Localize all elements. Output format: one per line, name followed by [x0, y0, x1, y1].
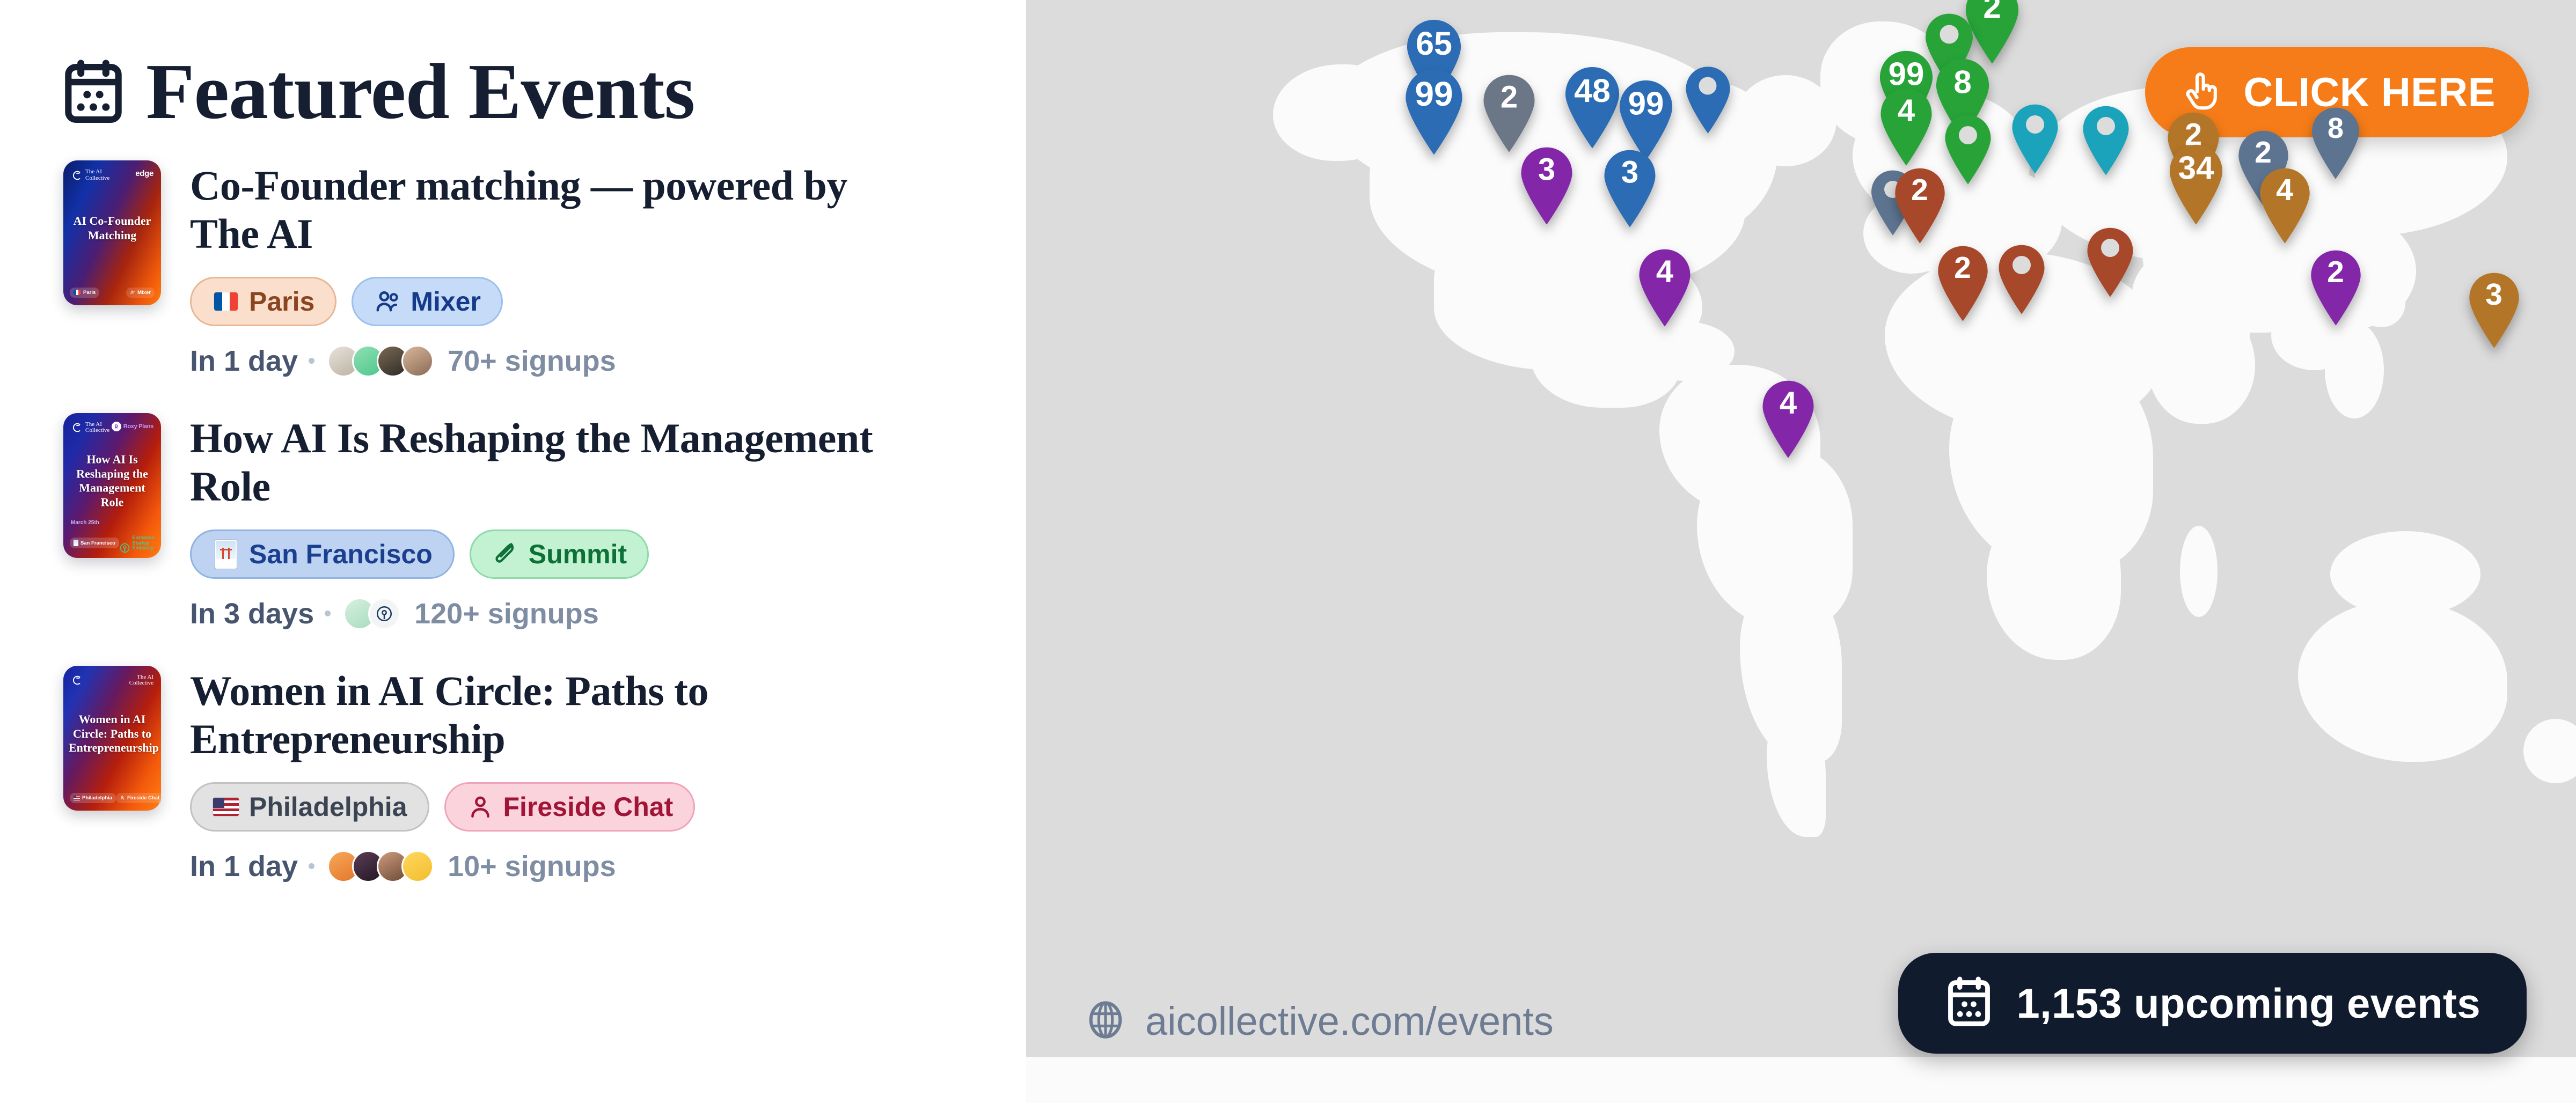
event-tag-label: Paris — [249, 286, 314, 317]
map-pin-count: 3 — [1517, 152, 1577, 188]
thumb-city-chip: San Francisco — [70, 538, 119, 548]
map-pin-count: 34 — [2165, 149, 2227, 186]
map-pin[interactable]: 4 — [1876, 87, 1936, 166]
map-pin[interactable] — [2008, 103, 2062, 174]
attendee-avatars — [343, 598, 400, 630]
event-tag-type[interactable]: Fireside Chat — [444, 782, 696, 832]
person-icon — [466, 793, 494, 821]
map-pin[interactable]: 3 — [1517, 146, 1577, 225]
thumb-brand-label: The AI Collective — [85, 169, 109, 181]
map-pin-shape — [1682, 65, 1734, 134]
map-pin-count: 3 — [1600, 155, 1660, 190]
person-icon — [120, 795, 125, 800]
thumb-date: March 25th — [71, 520, 99, 526]
event-body: Co-Founder matching — powered by The AI … — [190, 160, 1026, 378]
map-pin-hole — [2097, 117, 2115, 135]
upcoming-events-badge[interactable]: 1,153 upcoming events — [1898, 953, 2527, 1054]
event-title[interactable]: Women in AI Circle: Paths to Entrepreneu… — [190, 667, 888, 764]
click-here-label: CLICK HERE — [2244, 69, 2495, 116]
page-title: Featured Events — [146, 52, 694, 133]
map-pin-shape — [2079, 105, 2133, 176]
map-pin-shape — [2008, 103, 2062, 174]
map-pin-shape — [2083, 226, 2137, 298]
dot-separator — [309, 358, 314, 364]
thumb-type-label: Mixer — [137, 290, 151, 296]
partner-logo-icon — [112, 422, 121, 431]
map-pin[interactable]: 4 — [2256, 167, 2314, 244]
map-pin[interactable]: 2 — [1479, 73, 1539, 153]
event-tags: San Francisco Summit — [190, 530, 1026, 579]
thumb-city-label: San Francisco — [80, 540, 115, 546]
event-thumbnail[interactable]: The AI Collective Women in AI Circle: Pa… — [63, 666, 161, 811]
event-meta: In 1 day 70+ signups — [190, 344, 1026, 378]
map-pin-shape — [1941, 114, 1995, 185]
microphone-icon — [492, 540, 519, 568]
map-pin[interactable]: 3 — [1600, 149, 1660, 228]
event-thumbnail[interactable]: The AI Collective edge AI Co-Founder Mat… — [63, 160, 161, 305]
map-pin-count: 65 — [1402, 25, 1466, 62]
map-pin[interactable]: 34 — [2165, 143, 2227, 225]
thumb-partner-label: edge — [135, 169, 153, 178]
avatar — [368, 598, 400, 630]
thumb-headline: How AI Is Reshaping the Management Role — [69, 452, 156, 510]
thumb-city-chip: Philadelphia — [70, 793, 116, 803]
map-pin-count: 4 — [2256, 172, 2314, 208]
dot-separator — [325, 611, 331, 616]
embassy-logo: European Startup Embassy — [120, 535, 155, 550]
map-pin[interactable]: 4 — [1635, 248, 1695, 327]
event-list: The AI Collective edge AI Co-Founder Mat… — [0, 133, 1026, 883]
map-pin[interactable] — [2079, 105, 2133, 176]
event-tag-type[interactable]: Summit — [470, 530, 649, 579]
collective-logo-icon — [71, 674, 83, 686]
map-pin-count: 4 — [1758, 385, 1818, 421]
map-pin-count: 2 — [1891, 172, 1949, 208]
map-pin-count: 2 — [2307, 254, 2365, 290]
event-when: In 1 day — [190, 850, 298, 883]
thumb-type-label: Fireside Chat — [127, 795, 159, 801]
attendee-avatars — [327, 850, 434, 883]
world-map[interactable]: CLICK HERE aicollective.com/events — [1026, 0, 2576, 1103]
map-pin[interactable] — [2083, 226, 2137, 298]
event-tag-label: Summit — [529, 539, 627, 570]
flag-fr-icon — [212, 288, 240, 315]
map-pin-count: 4 — [1635, 254, 1695, 290]
map-pin-hole — [1959, 126, 1977, 144]
flag-us-icon — [212, 793, 240, 821]
map-pin-hole — [2101, 239, 2119, 257]
event-signups: 70+ signups — [448, 344, 616, 378]
map-pin-shape — [1995, 244, 2048, 315]
map-pin-count: 8 — [1931, 63, 1994, 100]
event-tags: Philadelphia Fireside Chat — [190, 782, 1026, 832]
thumb-city-label: Paris — [83, 290, 96, 296]
map-pin[interactable]: 4 — [1758, 379, 1818, 459]
event-tag-label: Fireside Chat — [503, 791, 674, 822]
pointing-hand-icon — [2178, 68, 2224, 117]
san-francisco-photo-icon — [212, 540, 240, 568]
thumb-type-chip: Fireside Chat — [116, 793, 161, 803]
upcoming-events-label: 1,153 upcoming events — [2016, 979, 2480, 1028]
map-pin-count: 4 — [1876, 93, 1936, 129]
site-url[interactable]: aicollective.com/events — [1085, 998, 1554, 1044]
map-pin-hole — [1699, 77, 1717, 95]
event-meta: In 1 day 10+ signups — [190, 850, 1026, 883]
map-pin-count: 8 — [2308, 112, 2363, 145]
people-icon — [130, 290, 135, 295]
map-pin-count: 2 — [1934, 250, 1992, 285]
thumb-headline: AI Co-Founder Matching — [69, 214, 156, 243]
event-tag-location[interactable]: Paris — [190, 277, 336, 326]
event-tag-label: Mixer — [411, 286, 481, 317]
attendee-avatars — [327, 345, 434, 377]
event-body: How AI Is Reshaping the Management Role … — [190, 413, 1026, 630]
map-pin-hole — [2026, 115, 2044, 134]
map-pin-count: 2 — [1479, 79, 1539, 115]
thumb-partner: Roxy Plans — [112, 422, 153, 431]
map-pin[interactable] — [1941, 114, 1995, 185]
event-tag-type[interactable]: Mixer — [352, 277, 503, 326]
event-tag-label: San Francisco — [249, 539, 433, 570]
map-pin-count: 99 — [1401, 74, 1467, 114]
thumb-type-chip: Mixer — [126, 288, 155, 298]
san-francisco-photo-icon — [74, 540, 78, 546]
thumb-city-chip: Paris — [70, 288, 99, 298]
avatar — [401, 850, 434, 883]
thumb-brand-label: The AI Collective — [129, 674, 153, 687]
thumb-partner-label: Roxy Plans — [123, 423, 153, 430]
event-card[interactable]: The AI Collective Women in AI Circle: Pa… — [63, 666, 1026, 883]
panel-header: Featured Events — [0, 0, 1026, 133]
avatar — [401, 345, 434, 377]
event-title[interactable]: How AI Is Reshaping the Management Role — [190, 414, 888, 511]
event-when: In 3 days — [190, 597, 314, 630]
site-url-label: aicollective.com/events — [1145, 998, 1554, 1044]
collective-logo: The AI Collective — [71, 169, 109, 181]
thumb-brand-label: The AI Collective — [85, 422, 109, 434]
map-pin[interactable]: 8 — [2308, 106, 2363, 180]
event-tag-label: Philadelphia — [249, 791, 407, 822]
event-tag-location[interactable]: Philadelphia — [190, 782, 429, 832]
map-pin-count: 99 — [1615, 85, 1677, 122]
event-thumbnail[interactable]: The AI Collective Roxy Plans How AI Is R… — [63, 413, 161, 558]
event-card[interactable]: The AI Collective Roxy Plans How AI Is R… — [63, 413, 1026, 630]
dot-separator — [309, 863, 314, 869]
embassy-ring-icon — [120, 538, 130, 548]
map-pin[interactable]: 2 — [2307, 249, 2365, 326]
map-pin[interactable] — [1682, 65, 1734, 134]
events-widget: Featured Events The AI Collective edge — [0, 0, 2576, 1103]
map-pin[interactable] — [1995, 244, 2048, 315]
calendar-icon — [1944, 975, 1994, 1032]
featured-events-panel: Featured Events The AI Collective edge — [0, 0, 1026, 1103]
map-pin[interactable]: 2 — [1891, 167, 1949, 244]
event-tag-location[interactable]: San Francisco — [190, 530, 455, 579]
event-body: Women in AI Circle: Paths to Entrepreneu… — [190, 666, 1026, 883]
collective-logo: The AI Collective — [71, 422, 109, 434]
people-icon — [374, 288, 401, 315]
thumb-city-label: Philadelphia — [82, 795, 112, 801]
thumb-headline: Women in AI Circle: Paths to Entrepreneu… — [69, 712, 156, 755]
map-pin-count: 2 — [2234, 135, 2293, 170]
event-signups: 10+ signups — [448, 850, 616, 883]
event-title[interactable]: Co-Founder matching — powered by The AI — [190, 161, 888, 259]
globe-icon — [1085, 999, 1126, 1043]
map-pin[interactable]: 3 — [2465, 271, 2523, 349]
embassy-label: European Startup Embassy — [132, 535, 155, 550]
calendar-icon — [63, 60, 123, 124]
flag-us-icon — [74, 796, 80, 800]
map-pin[interactable]: 99 — [1401, 68, 1467, 156]
map-pin[interactable]: 2 — [1934, 245, 1992, 322]
map-pin-hole — [2012, 256, 2031, 274]
flag-fr-icon — [74, 290, 81, 295]
map-pin-hole — [1940, 25, 1959, 44]
event-meta: In 3 days 120+ signups — [190, 597, 1026, 630]
map-pin-count: 3 — [2465, 277, 2523, 312]
event-when: In 1 day — [190, 344, 298, 378]
event-signups: 120+ signups — [414, 597, 599, 630]
event-card[interactable]: The AI Collective edge AI Co-Founder Mat… — [63, 160, 1026, 378]
event-tags: Paris Mixer — [190, 277, 1026, 326]
